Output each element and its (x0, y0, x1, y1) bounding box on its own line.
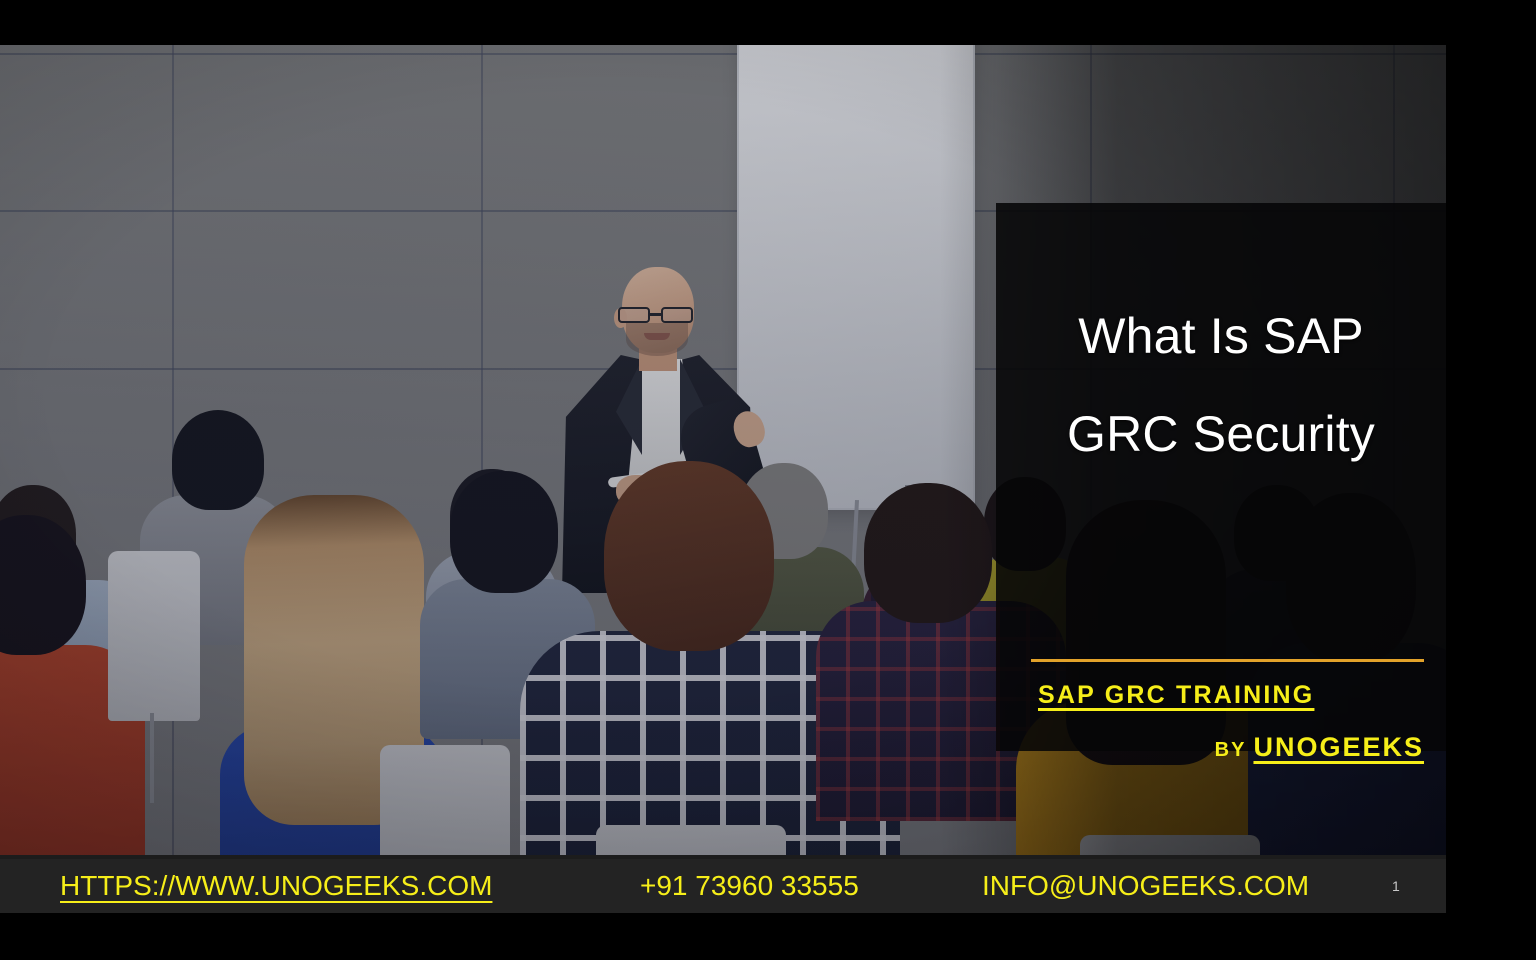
title-overlay-panel: What Is SAP GRC Security SAP GRC TRAININ… (996, 203, 1446, 751)
glasses-bridge (650, 313, 663, 316)
provider-credit-prefix: BY (1215, 739, 1247, 761)
footer-email-address[interactable]: INFO@UNOGEEKS.COM (982, 870, 1309, 902)
title-line-2: GRC Security (996, 409, 1446, 459)
audience-head (864, 483, 992, 623)
slide-canvas: What Is SAP GRC Security SAP GRC TRAININ… (0, 45, 1446, 913)
audience-head (604, 461, 774, 651)
glasses-lens (661, 307, 693, 323)
presenter-mouth (644, 333, 670, 340)
audience-head (450, 471, 558, 593)
glasses-lens (618, 307, 650, 323)
chair (108, 551, 200, 721)
footer-content: HTTPS://WWW.UNOGEEKS.COM +91 73960 33555… (0, 859, 1446, 913)
course-name-label[interactable]: SAP GRC TRAINING (1038, 681, 1314, 710)
chair-leg (150, 713, 154, 803)
slide-letterbox-frame: What Is SAP GRC Security SAP GRC TRAININ… (0, 0, 1536, 960)
slide-title: What Is SAP GRC Security (996, 311, 1446, 459)
provider-credit: BYUNOGEEKS (1215, 732, 1424, 763)
accent-divider-rule (1031, 659, 1424, 662)
slide-page-number: 1 (1392, 878, 1400, 894)
brand-name-unogeeks[interactable]: UNOGEEKS (1253, 732, 1424, 762)
footer-website-link[interactable]: HTTPS://WWW.UNOGEEKS.COM (60, 870, 492, 902)
wall-seam-horizontal (0, 53, 1446, 55)
presenter-glasses (616, 307, 700, 323)
flipchart-board (737, 45, 975, 510)
slide-footer-bar: HTTPS://WWW.UNOGEEKS.COM +91 73960 33555… (0, 855, 1446, 913)
footer-phone-number[interactable]: +91 73960 33555 (640, 870, 859, 902)
audience-head (0, 515, 86, 655)
title-line-1: What Is SAP (996, 311, 1446, 361)
